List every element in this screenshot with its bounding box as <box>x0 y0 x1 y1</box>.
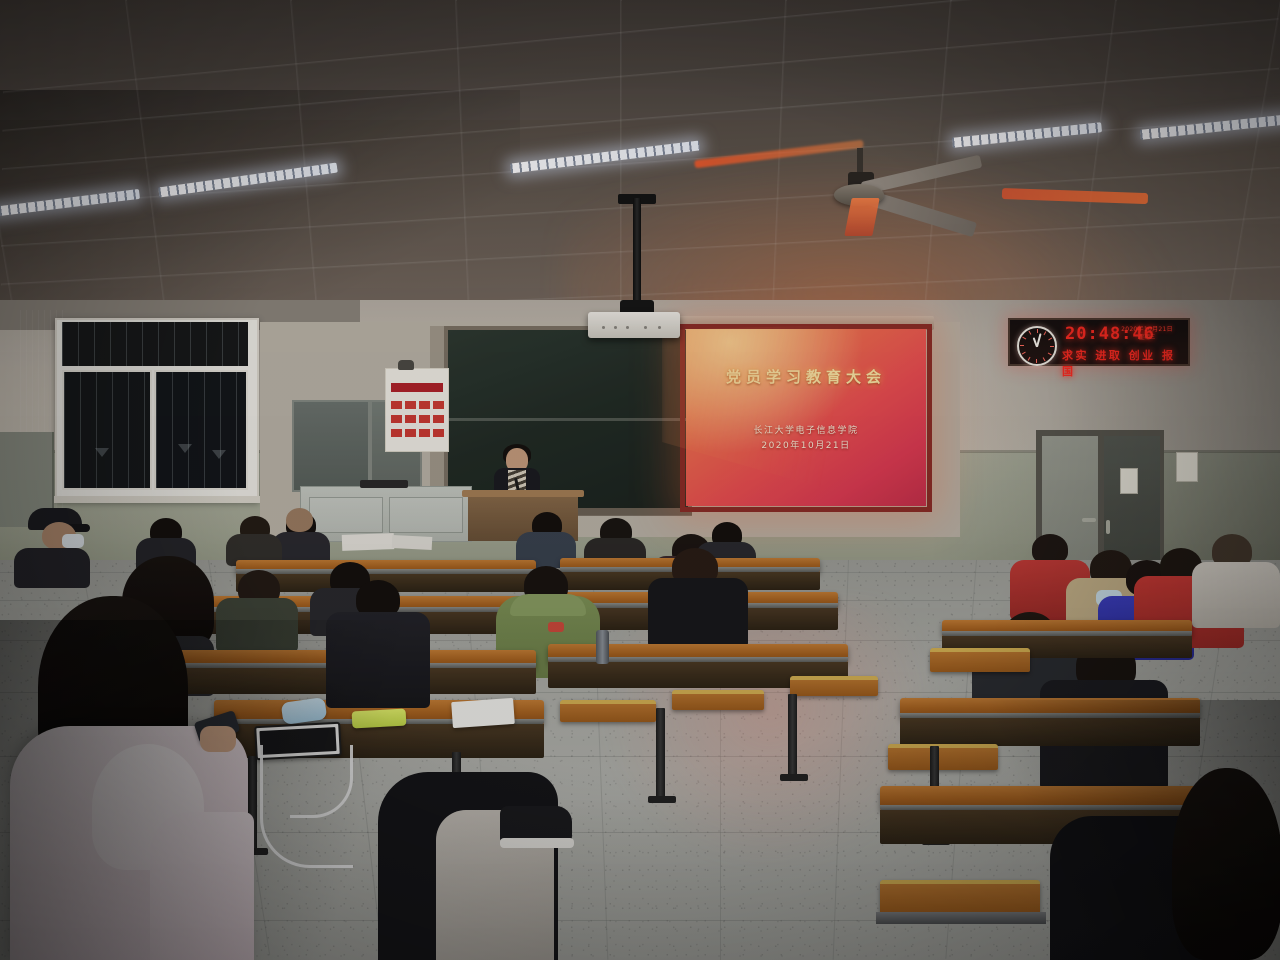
analog-clock-face <box>1017 326 1057 366</box>
hoodie-hood <box>510 594 586 616</box>
notebook <box>451 698 515 728</box>
ceiling-tile-line <box>0 0 17 327</box>
ceiling-tile-line <box>620 0 622 331</box>
clock-weekday-text: 星期三 <box>1111 333 1183 341</box>
window-bar-arrow <box>178 444 192 453</box>
ceiling-tile-line <box>125 0 168 329</box>
papers-on-desk <box>392 535 433 550</box>
window-pane-right <box>154 370 248 490</box>
audience-torso <box>14 548 90 588</box>
door-sign <box>1120 468 1138 494</box>
door-handle[interactable] <box>1082 518 1096 522</box>
poster-heading <box>391 383 443 392</box>
bench-seat[interactable] <box>560 700 656 722</box>
floor-shadow-left <box>0 620 430 960</box>
security-camera <box>398 360 414 370</box>
lecture-hall-photo: 党员学习教育大会 长江大学电子信息学院 2020年10月21日 <box>0 0 1280 960</box>
podium-top <box>462 490 584 497</box>
bench-seat[interactable] <box>790 676 878 696</box>
projector-mount-pole <box>633 198 641 304</box>
audience-torso-hoodie <box>1192 562 1280 628</box>
lecture-desk <box>236 560 536 574</box>
floor-shadow-right <box>980 700 1280 960</box>
window-bar-arrow <box>95 448 109 457</box>
audience-head-bald <box>286 508 313 532</box>
desk-leg <box>788 694 797 778</box>
blackboard-divider-rail <box>444 418 692 421</box>
led-clock-display: 20:48:46 2020年10月21日 星期三 求实 进取 创业 报国 <box>1008 318 1190 366</box>
desk-leg-foot <box>780 774 808 781</box>
window-pane-left <box>62 370 152 490</box>
bench-seat[interactable] <box>930 648 1030 672</box>
desk-leg-foot <box>648 796 676 803</box>
hoodie-logo <box>548 622 564 632</box>
water-bottle <box>596 630 609 664</box>
clock-minute-hand <box>1036 333 1042 347</box>
ceiling-tile-line <box>771 0 787 331</box>
audience-face-mask <box>62 534 84 548</box>
blackboard <box>444 326 692 516</box>
ceiling-tile-line <box>1074 0 1117 329</box>
desk-leg <box>656 708 665 800</box>
lecture-desk <box>548 644 848 662</box>
cabinet-top-object <box>360 480 408 488</box>
papers-on-desk <box>342 533 395 551</box>
lecture-desk <box>942 620 1192 636</box>
ceiling-tile-line <box>3 0 1278 93</box>
ceiling-tile-line <box>1225 0 1280 327</box>
window-transom <box>62 322 248 366</box>
clock-date-text: 2020年10月21日 <box>1111 324 1183 333</box>
front-cabinet-door-left[interactable] <box>292 400 370 492</box>
bench-seat[interactable] <box>672 690 764 710</box>
wall-notice-sign <box>1176 452 1198 482</box>
core-values-poster <box>385 368 449 452</box>
window-sill <box>52 496 260 503</box>
projector <box>588 312 680 338</box>
clock-motto-text: 求实 进取 创业 报国 <box>1062 347 1188 379</box>
shoe-sole <box>500 838 574 848</box>
door-handle[interactable] <box>1106 520 1110 534</box>
ceiling-tile-line <box>455 0 471 331</box>
window-bar-arrow <box>212 450 226 459</box>
audience-torso <box>648 578 748 648</box>
